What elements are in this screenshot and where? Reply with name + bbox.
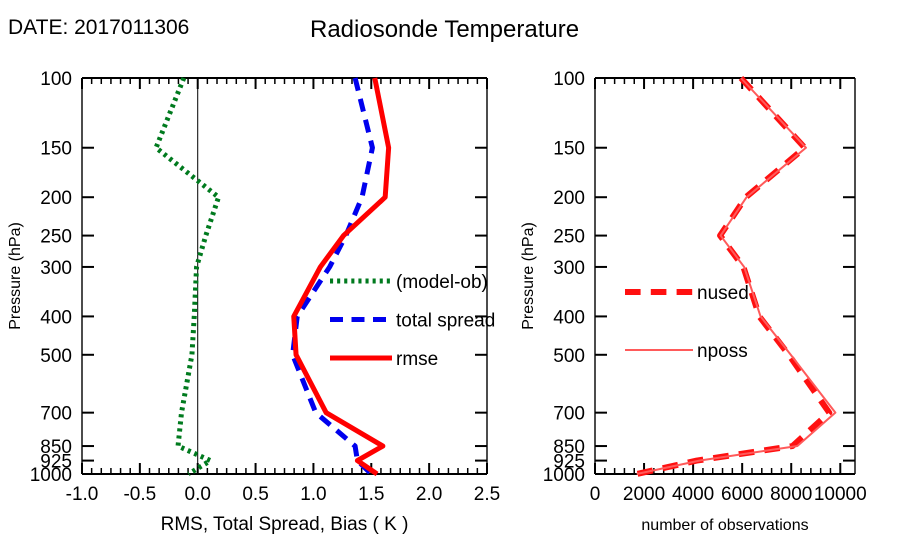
- y-axis-title: Pressure (hPa): [7, 222, 24, 330]
- y-tick-label: 300: [40, 258, 72, 279]
- series-line-nused: [637, 78, 830, 474]
- legend-label: total spread: [396, 311, 495, 332]
- y-tick-label: 500: [40, 346, 72, 367]
- y-tick-label: 250: [40, 227, 72, 248]
- x-tick-label: 2.0: [416, 484, 442, 505]
- plot-svg: -1.0-0.50.00.51.01.52.02.510015020025030…: [0, 0, 900, 560]
- series-line-nposs: [637, 78, 836, 474]
- x-tick-label: 8000: [770, 484, 812, 505]
- x-tick-label: 4000: [672, 484, 714, 505]
- y-axis-title: Pressure (hPa): [520, 222, 537, 330]
- legend-entry: (model-ob): [330, 272, 488, 293]
- y-tick-label: 100: [40, 69, 72, 90]
- legend-label: nposs: [697, 341, 748, 362]
- y-tick-label: 200: [40, 188, 72, 209]
- legend-entry: total spread: [330, 311, 495, 332]
- x-axis-title: number of observations: [641, 517, 808, 534]
- chart-page: DATE: 2017011306 Radiosonde Temperature …: [0, 0, 900, 560]
- y-tick-label: 200: [553, 188, 585, 209]
- x-axis-title: RMS, Total Spread, Bias ( K ): [161, 514, 409, 535]
- legend-label: nused: [697, 283, 749, 304]
- y-tick-label: 150: [553, 139, 585, 160]
- y-tick-label: 400: [553, 307, 585, 328]
- x-tick-label: 2.5: [474, 484, 500, 505]
- y-tick-label: 150: [40, 139, 72, 160]
- legend-label: rmse: [396, 349, 438, 370]
- x-tick-label: 6000: [721, 484, 763, 505]
- y-tick-label: 1000: [543, 465, 585, 486]
- plot-canvas: -1.0-0.50.00.51.01.52.02.510015020025030…: [0, 0, 900, 560]
- y-tick-label: 300: [553, 258, 585, 279]
- left-profile-panel: -1.0-0.50.00.51.01.52.02.510015020025030…: [7, 69, 500, 535]
- x-tick-label: -1.0: [66, 484, 99, 505]
- right-profile-panel: 0200040006000800010000100150200250300400…: [520, 69, 867, 534]
- series-line--model-ob-: [156, 78, 218, 474]
- y-tick-label: 100: [553, 69, 585, 90]
- legend-entry: rmse: [330, 349, 438, 370]
- x-tick-label: 2000: [623, 484, 665, 505]
- x-tick-label: 0.5: [242, 484, 268, 505]
- y-tick-label: 250: [553, 227, 585, 248]
- legend-entry: nposs: [625, 341, 748, 362]
- legend-label: (model-ob): [396, 272, 488, 293]
- x-tick-label: 1.0: [300, 484, 326, 505]
- x-tick-label: 10000: [814, 484, 867, 505]
- y-tick-label: 400: [40, 307, 72, 328]
- x-tick-label: 1.5: [358, 484, 384, 505]
- x-tick-label: 0: [590, 484, 601, 505]
- y-tick-label: 1000: [30, 465, 72, 486]
- y-tick-label: 700: [553, 404, 585, 425]
- y-tick-label: 500: [553, 346, 585, 367]
- legend-entry: nused: [625, 283, 749, 304]
- x-tick-label: 0.0: [185, 484, 211, 505]
- x-tick-label: -0.5: [123, 484, 156, 505]
- series-line-rmse: [294, 78, 389, 474]
- y-tick-label: 700: [40, 404, 72, 425]
